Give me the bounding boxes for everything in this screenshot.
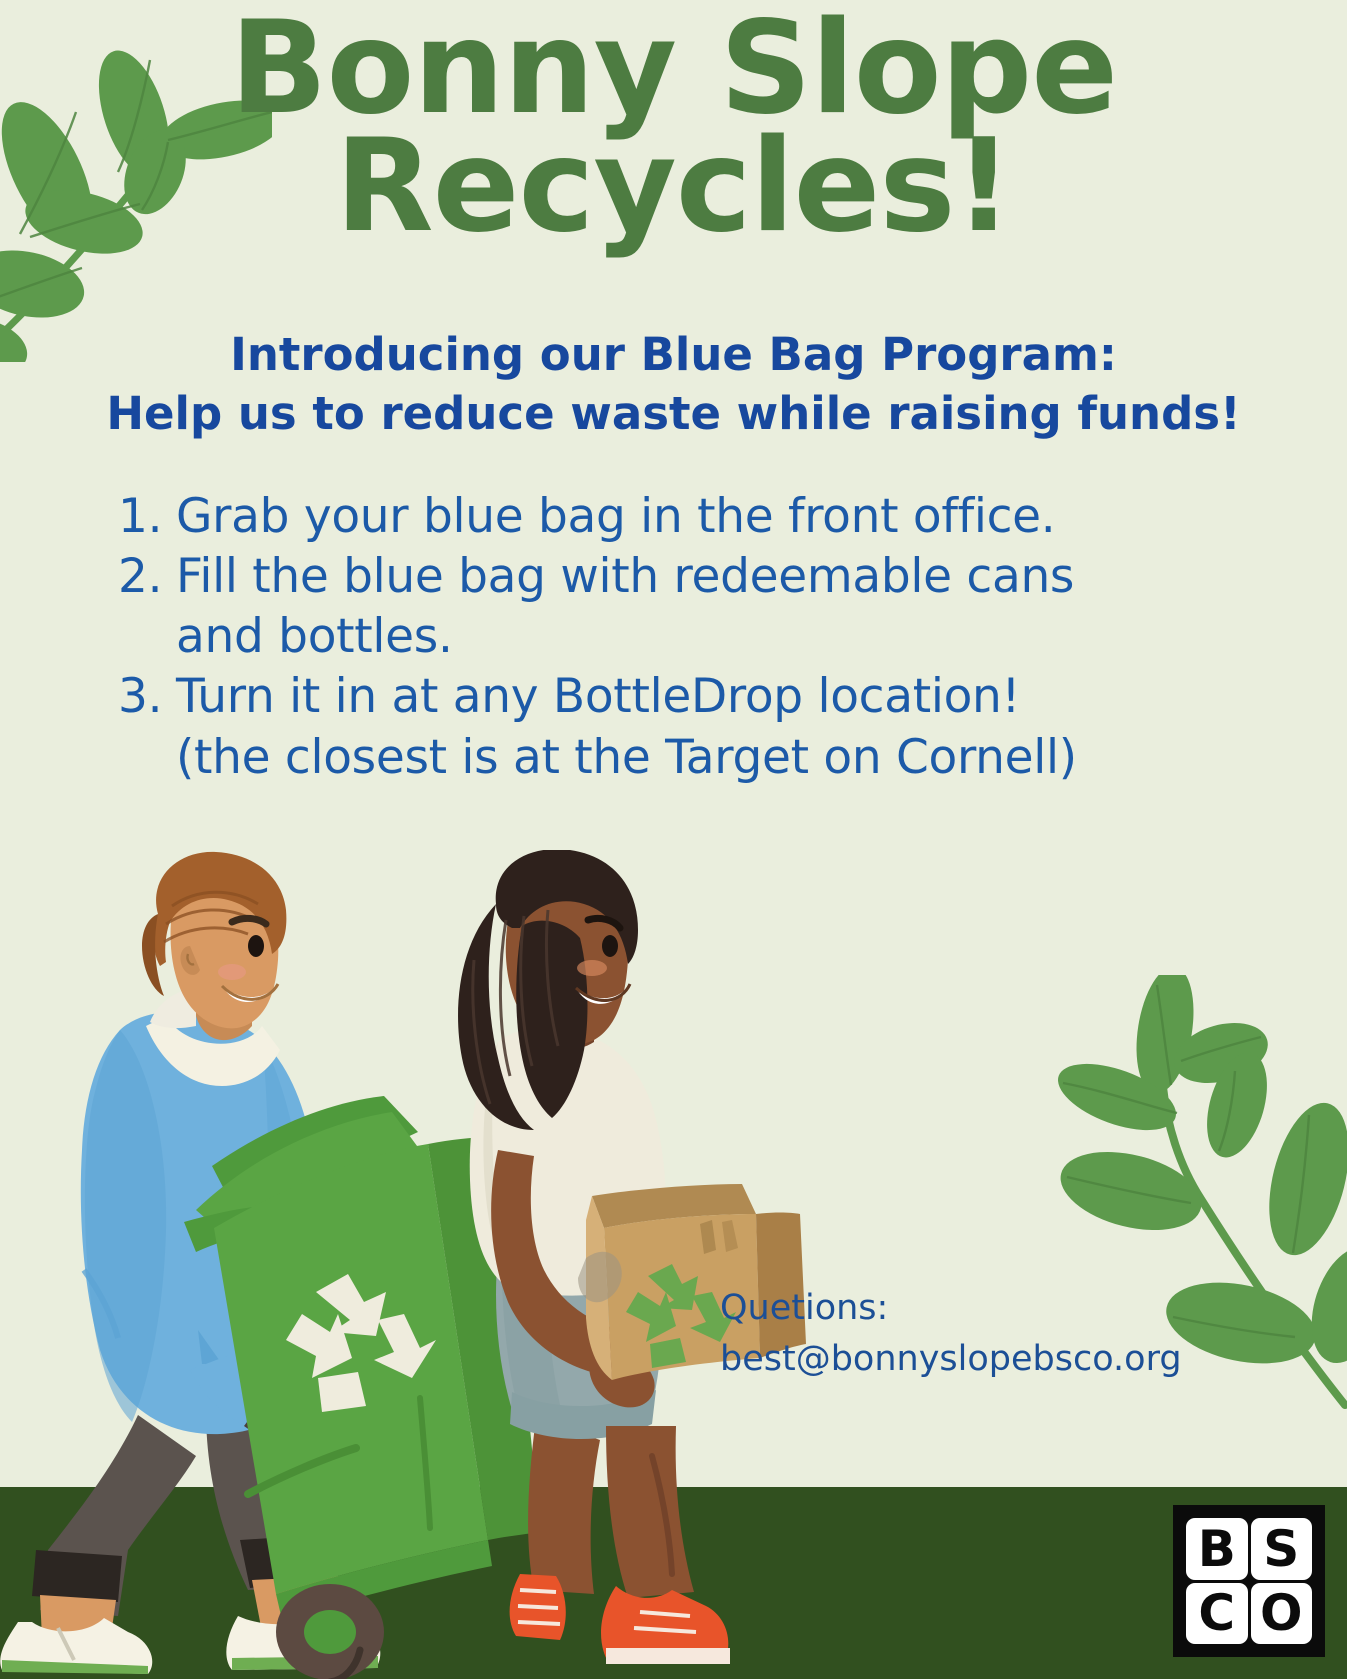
steps-list: 1. Grab your blue bag in the front offic…: [0, 487, 1347, 788]
step-item-2: 2. Fill the blue bag with redeemable can…: [0, 547, 1347, 607]
step-text-3: Turn it in at any BottleDrop location!: [176, 667, 1020, 727]
recycling-poster: Bonny Slope Recycles! Introducing our Bl…: [0, 0, 1347, 1679]
step-number-3: 3.: [118, 667, 176, 727]
step-text-2-continued: and bottles.: [0, 607, 1347, 667]
step-number-2: 2.: [118, 547, 176, 607]
bin-wheel: [276, 1584, 384, 1679]
logo-letter-o: O: [1251, 1583, 1313, 1645]
step-text-2: Fill the blue bag with redeemable cans: [176, 547, 1074, 607]
subheading-line-2: Help us to reduce waste while raising fu…: [0, 384, 1347, 443]
step-item-3: 3. Turn it in at any BottleDrop location…: [0, 667, 1347, 727]
subheading-line-1: Introducing our Blue Bag Program:: [0, 325, 1347, 384]
subheading: Introducing our Blue Bag Program: Help u…: [0, 325, 1347, 444]
bsco-logo: B S C O: [1173, 1505, 1325, 1657]
contact-label: Quetions:: [720, 1283, 1182, 1334]
step-text-1: Grab your blue bag in the front office.: [176, 487, 1055, 547]
step-item-1: 1. Grab your blue bag in the front offic…: [0, 487, 1347, 547]
logo-letter-s: S: [1251, 1518, 1313, 1580]
step-number-1: 1.: [118, 487, 176, 547]
title-line-1: Bonny Slope: [0, 10, 1347, 128]
logo-letter-b: B: [1186, 1518, 1248, 1580]
title-line-2: Recycles!: [0, 128, 1347, 246]
contact-email[interactable]: best@bonnyslopebsco.org: [720, 1334, 1182, 1385]
poster-title: Bonny Slope Recycles!: [0, 10, 1347, 246]
step-text-3-continued: (the closest is at the Target on Cornell…: [0, 728, 1347, 788]
logo-letter-c: C: [1186, 1583, 1248, 1645]
illustration-scene: [0, 850, 1347, 1679]
woman-figure: [458, 850, 806, 1664]
contact-info: Quetions: best@bonnyslopebsco.org: [720, 1283, 1182, 1385]
